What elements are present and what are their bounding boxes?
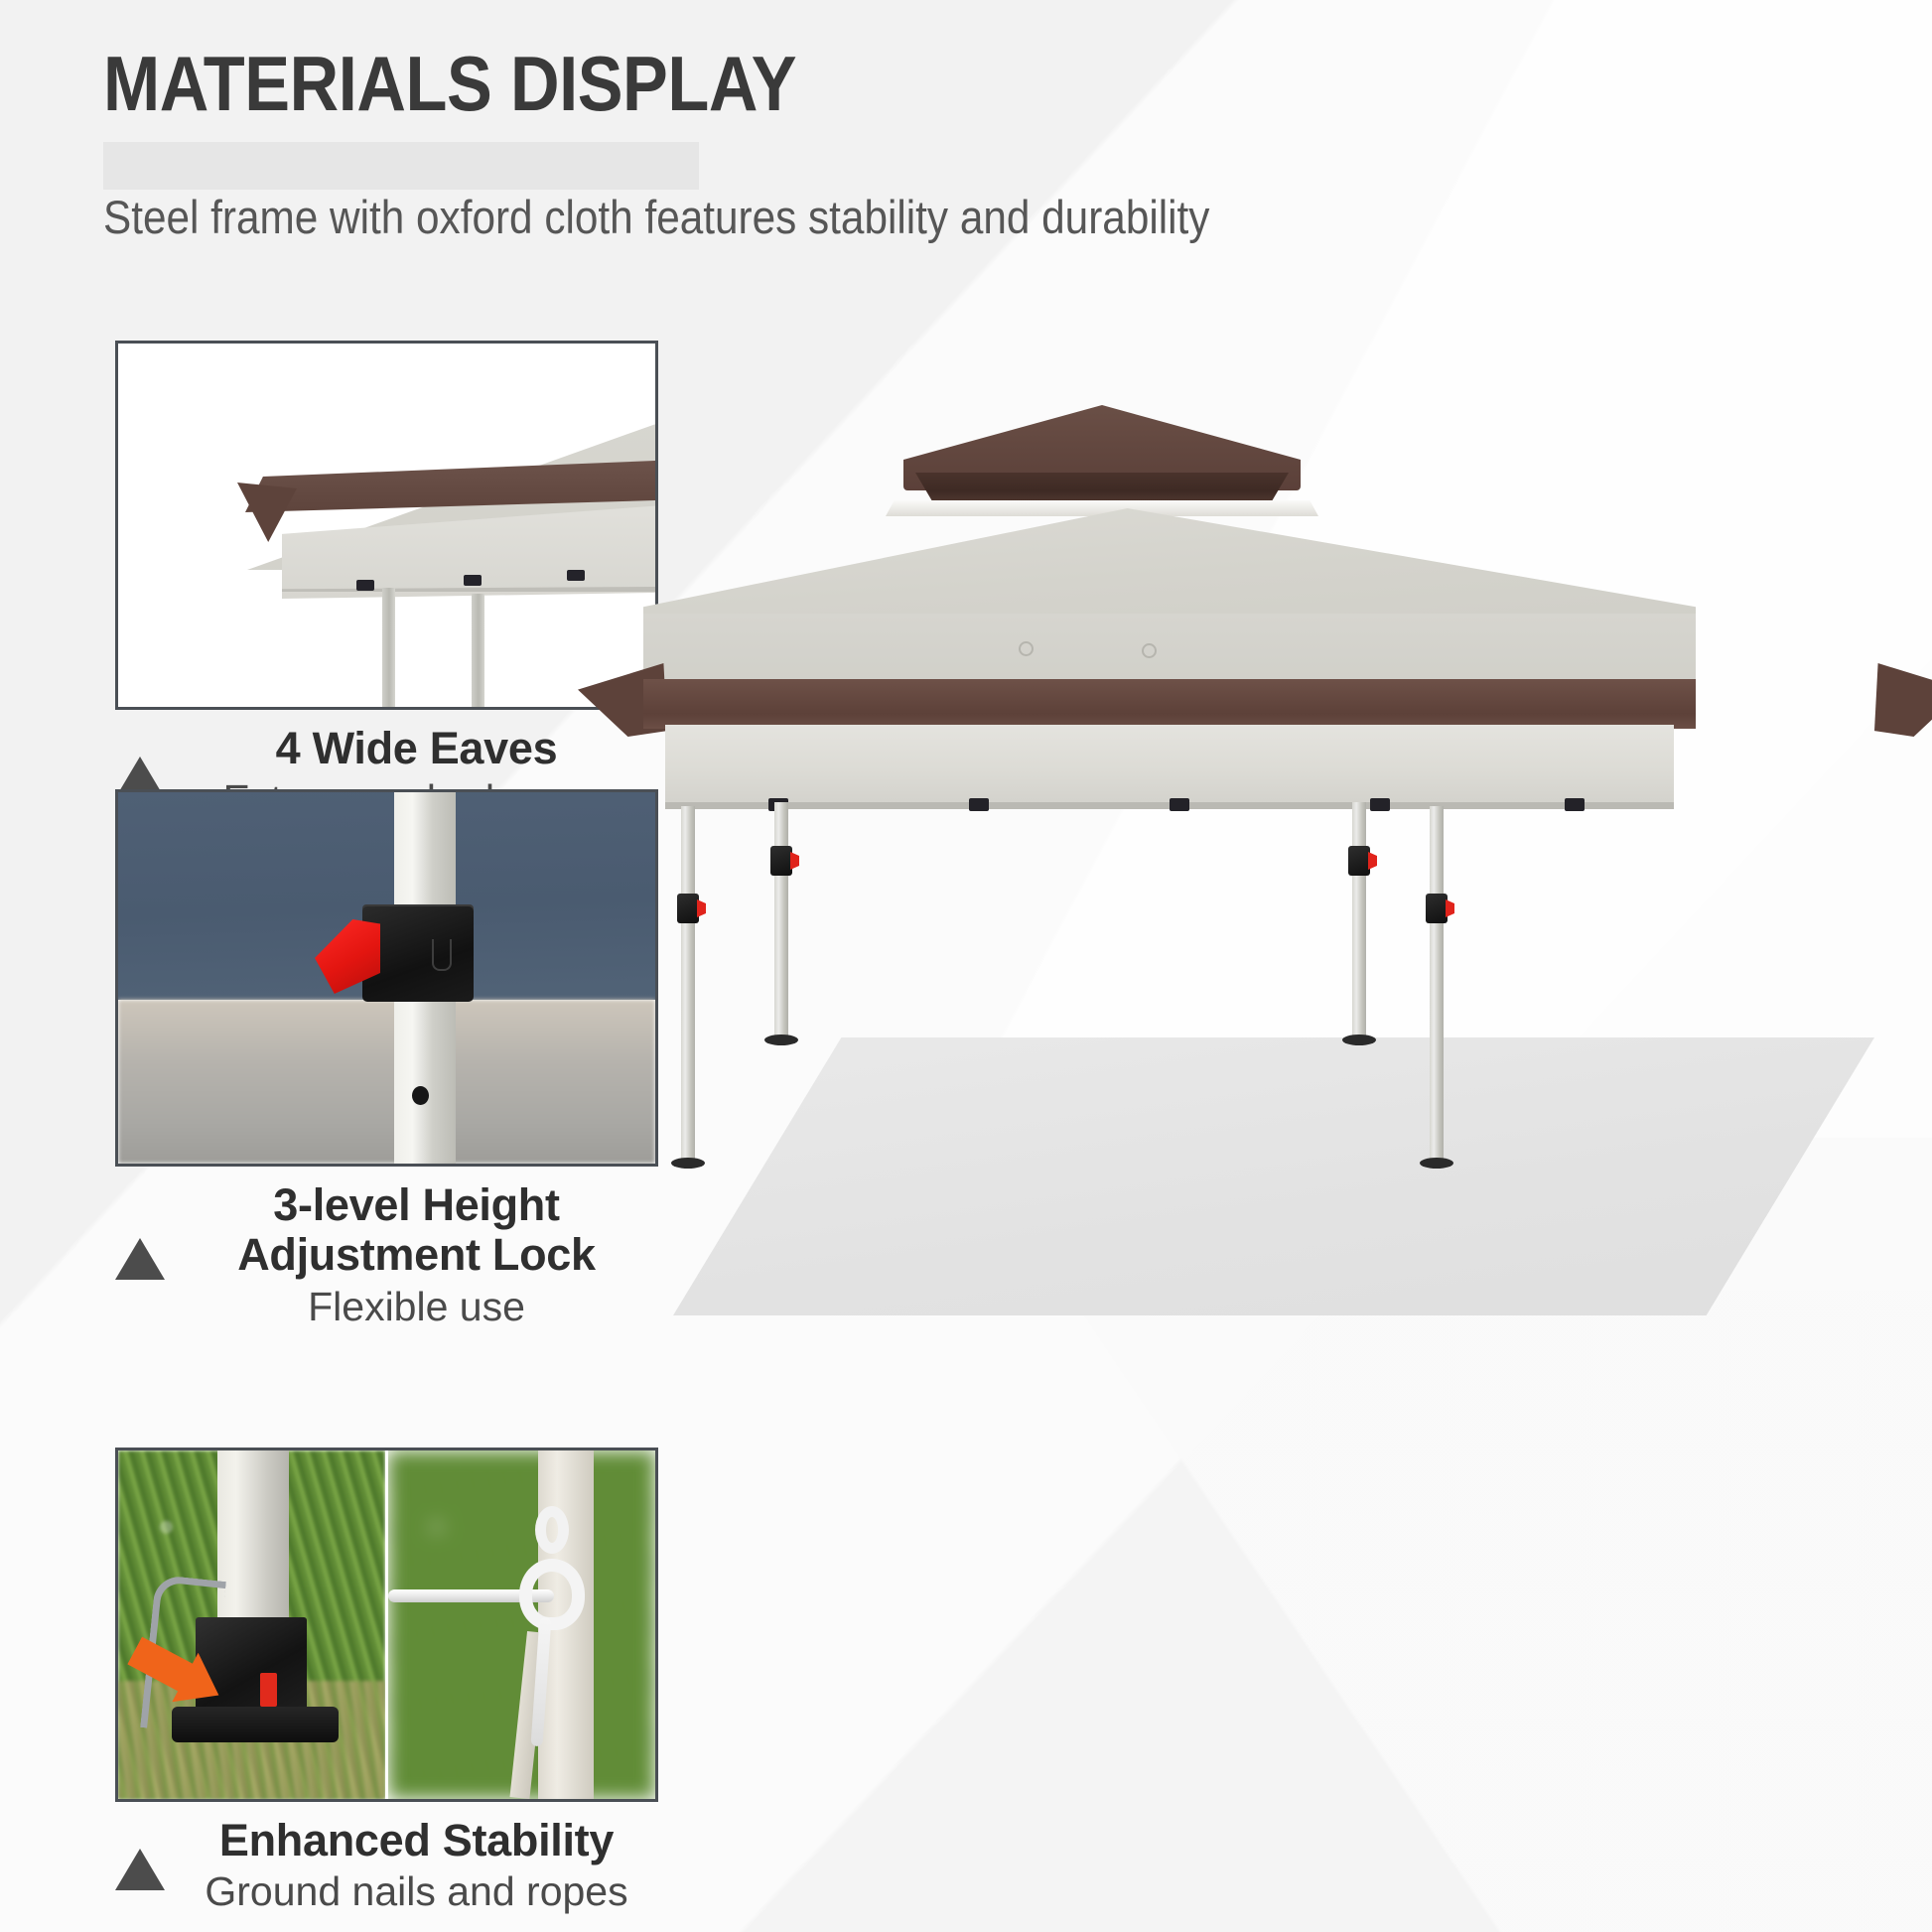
rope-loop bbox=[535, 1506, 569, 1554]
eaves-scene bbox=[118, 344, 655, 707]
caption-title-line-1: 3-level Height bbox=[175, 1180, 658, 1230]
stability-leg-pole bbox=[217, 1450, 289, 1641]
caption-text-stability: Enhanced Stability Ground nails and rope… bbox=[175, 1816, 658, 1917]
eaves-leg-front bbox=[382, 588, 395, 710]
title-highlight-band bbox=[103, 142, 699, 190]
canopy-grommet-left bbox=[1019, 641, 1034, 656]
caption-title-eaves: 4 Wide Eaves bbox=[175, 724, 658, 773]
eaves-clip-b bbox=[464, 575, 482, 586]
lock-photo-ground bbox=[118, 1000, 655, 1164]
gazebo-leg-lock-rear-right bbox=[1348, 846, 1370, 876]
feature-block-stability: Enhanced Stability Ground nails and rope… bbox=[115, 1448, 658, 1917]
gazebo-foot-rear-left bbox=[764, 1035, 798, 1045]
gazebo-brown-band bbox=[643, 679, 1696, 729]
caption-subtitle-stability: Ground nails and ropes bbox=[175, 1867, 658, 1916]
stability-red-marker bbox=[260, 1673, 277, 1707]
eaves-leg-rear bbox=[472, 594, 484, 710]
gazebo-leg-lock-rear-left bbox=[770, 846, 792, 876]
gazebo-leg-rear-left bbox=[774, 802, 788, 1040]
product-illustration-gazebo bbox=[635, 397, 1906, 1469]
canopy-grommet-right bbox=[1142, 643, 1157, 658]
page-subtitle: Steel frame with oxford cloth features s… bbox=[103, 189, 1209, 247]
eaves-clip-a bbox=[356, 580, 374, 591]
gazebo-leg-lock-front-left bbox=[677, 894, 699, 923]
lock-slot-icon bbox=[432, 939, 452, 971]
gazebo-brown-band-right-tip bbox=[1874, 663, 1932, 737]
caption-title-stability: Enhanced Stability bbox=[175, 1816, 658, 1865]
feature-photo-eaves bbox=[115, 341, 658, 710]
gazebo-floor-shadow bbox=[673, 1037, 1874, 1315]
triangle-up-icon bbox=[115, 1849, 165, 1890]
gazebo-leg-front-right bbox=[1430, 806, 1444, 1164]
rope-knot bbox=[519, 1559, 585, 1630]
gazebo-foot-front-right bbox=[1420, 1158, 1453, 1169]
gazebo-clip-4 bbox=[1370, 798, 1390, 811]
lock-pole-hole bbox=[412, 1086, 429, 1105]
caption-title-line-2: Adjustment Lock bbox=[175, 1230, 658, 1280]
stability-photo-rope-knot bbox=[385, 1450, 655, 1799]
feature-caption-stability: Enhanced Stability Ground nails and rope… bbox=[115, 1802, 658, 1917]
feature-photo-height-lock bbox=[115, 789, 658, 1167]
triangle-up-icon bbox=[115, 1238, 165, 1280]
gazebo-leg-lock-front-right bbox=[1426, 894, 1448, 923]
feature-block-eaves: 4 Wide Eaves Extra sun shade area bbox=[115, 341, 658, 825]
gazebo-valance-skirt bbox=[665, 725, 1674, 808]
page-title: MATERIALS DISPLAY bbox=[103, 42, 796, 127]
gazebo-clip-2 bbox=[969, 798, 989, 811]
gazebo-leg-front-left bbox=[681, 806, 695, 1164]
infographic-page: MATERIALS DISPLAY Steel frame with oxfor… bbox=[0, 0, 1932, 1932]
feature-caption-height-lock: 3-level Height Adjustment Lock Flexible … bbox=[115, 1167, 658, 1331]
eaves-clip-c bbox=[567, 570, 585, 581]
caption-subtitle-height-lock: Flexible use bbox=[175, 1283, 658, 1331]
gazebo-foot-front-left bbox=[671, 1158, 705, 1169]
gazebo-clip-3 bbox=[1170, 798, 1189, 811]
feature-block-height-lock: 3-level Height Adjustment Lock Flexible … bbox=[115, 789, 658, 1331]
caption-text-height-lock: 3-level Height Adjustment Lock Flexible … bbox=[175, 1180, 658, 1331]
eaves-brown-corner-tip bbox=[237, 483, 297, 542]
gazebo-foot-rear-right bbox=[1342, 1035, 1376, 1045]
stability-photo-ground-nail bbox=[118, 1450, 385, 1799]
feature-photo-stability bbox=[115, 1448, 658, 1802]
gazebo-leg-rear-right bbox=[1352, 802, 1366, 1040]
gazebo-clip-5 bbox=[1565, 798, 1585, 811]
